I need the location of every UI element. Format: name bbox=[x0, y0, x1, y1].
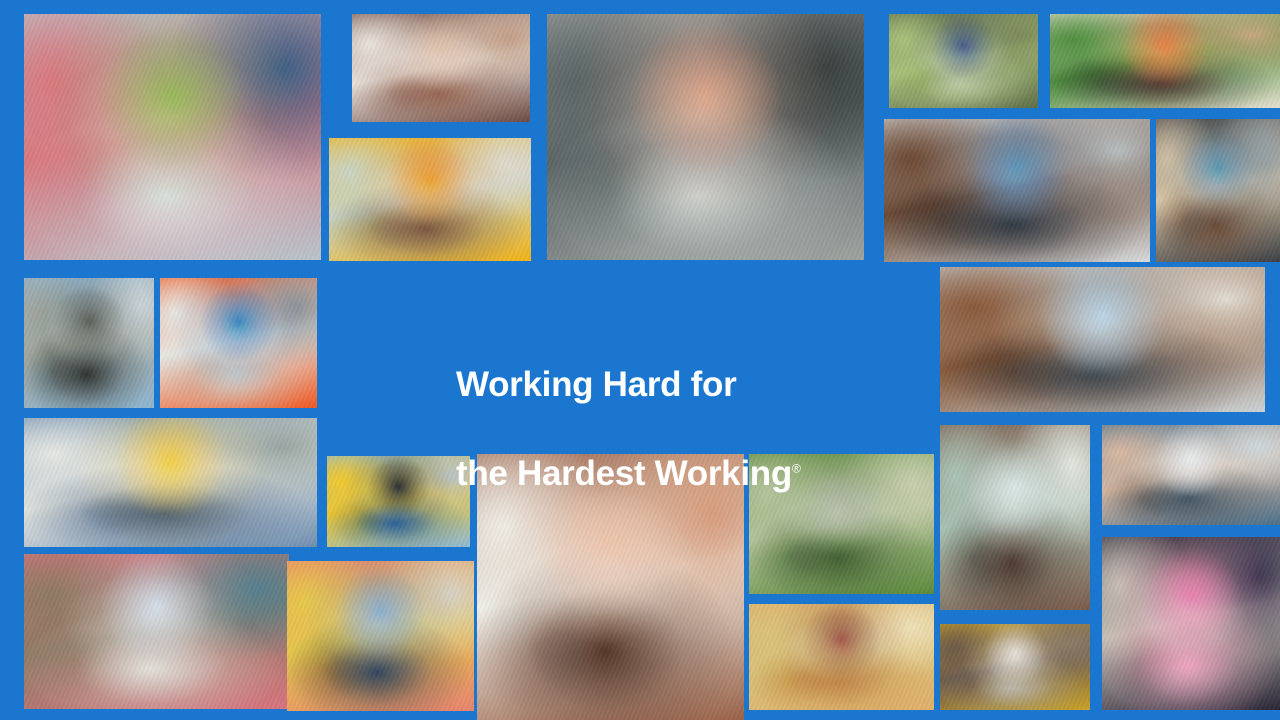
photo-surface bbox=[24, 554, 289, 709]
photo-woman-in-overalls-workshop bbox=[1156, 119, 1280, 262]
photo-family-of-five-outdoors bbox=[24, 14, 321, 260]
photo-man-blue-polo-warehouse bbox=[24, 278, 154, 408]
photo-surface bbox=[1050, 14, 1280, 108]
photo-surface bbox=[884, 119, 1150, 262]
photo-nurse-with-child bbox=[1102, 425, 1280, 525]
photo-surface bbox=[940, 425, 1090, 610]
headline-line-1: Working Hard for bbox=[456, 363, 801, 408]
photo-three-generations-field bbox=[749, 604, 934, 710]
headline-line-2-wrap: the Hardest Working® bbox=[456, 452, 801, 497]
photo-surface bbox=[287, 561, 474, 711]
photo-surface bbox=[24, 278, 154, 408]
photo-woman-yellow-top-smiling bbox=[940, 624, 1090, 710]
photo-woman-floral-jacket-celebrating bbox=[1102, 537, 1280, 710]
photo-surface bbox=[547, 14, 864, 260]
photo-surface bbox=[940, 624, 1090, 710]
photo-surface bbox=[1102, 425, 1280, 525]
photo-father-mother-child-tablet bbox=[352, 14, 530, 122]
photo-woman-apron-store bbox=[327, 456, 470, 547]
photo-surface bbox=[1102, 537, 1280, 710]
photo-surface bbox=[749, 604, 934, 710]
page-headline: Working Hard for the Hardest Working® bbox=[456, 318, 801, 542]
headline-line-2: the Hardest Working bbox=[456, 454, 792, 493]
photo-auto-mechanic-in-shop bbox=[884, 119, 1150, 262]
photo-surface bbox=[940, 267, 1265, 412]
photo-barista-apron-cafe bbox=[547, 14, 864, 260]
photo-surface bbox=[889, 14, 1038, 108]
photo-parents-carrying-kids bbox=[287, 561, 474, 711]
photo-surface bbox=[329, 138, 531, 261]
photo-senior-couple-on-sofa bbox=[160, 278, 317, 408]
collage-canvas: Working Hard for the Hardest Working® bbox=[0, 0, 1280, 720]
photo-two-workers-hard-hats bbox=[24, 418, 317, 547]
photo-couple-embracing-outdoors bbox=[940, 425, 1090, 610]
registered-trademark-icon: ® bbox=[792, 462, 801, 476]
photo-military-family-hug bbox=[889, 14, 1038, 108]
photo-mother-daughter-yellow-shirts bbox=[329, 138, 531, 261]
photo-surface bbox=[24, 418, 317, 547]
photo-teacher-with-students bbox=[1050, 14, 1280, 108]
photo-family-four-at-home bbox=[24, 554, 289, 709]
photo-surface bbox=[160, 278, 317, 408]
photo-office-worker-at-desk bbox=[940, 267, 1265, 412]
photo-surface bbox=[24, 14, 321, 260]
photo-surface bbox=[1156, 119, 1280, 262]
photo-surface bbox=[327, 456, 470, 547]
photo-surface bbox=[352, 14, 530, 122]
